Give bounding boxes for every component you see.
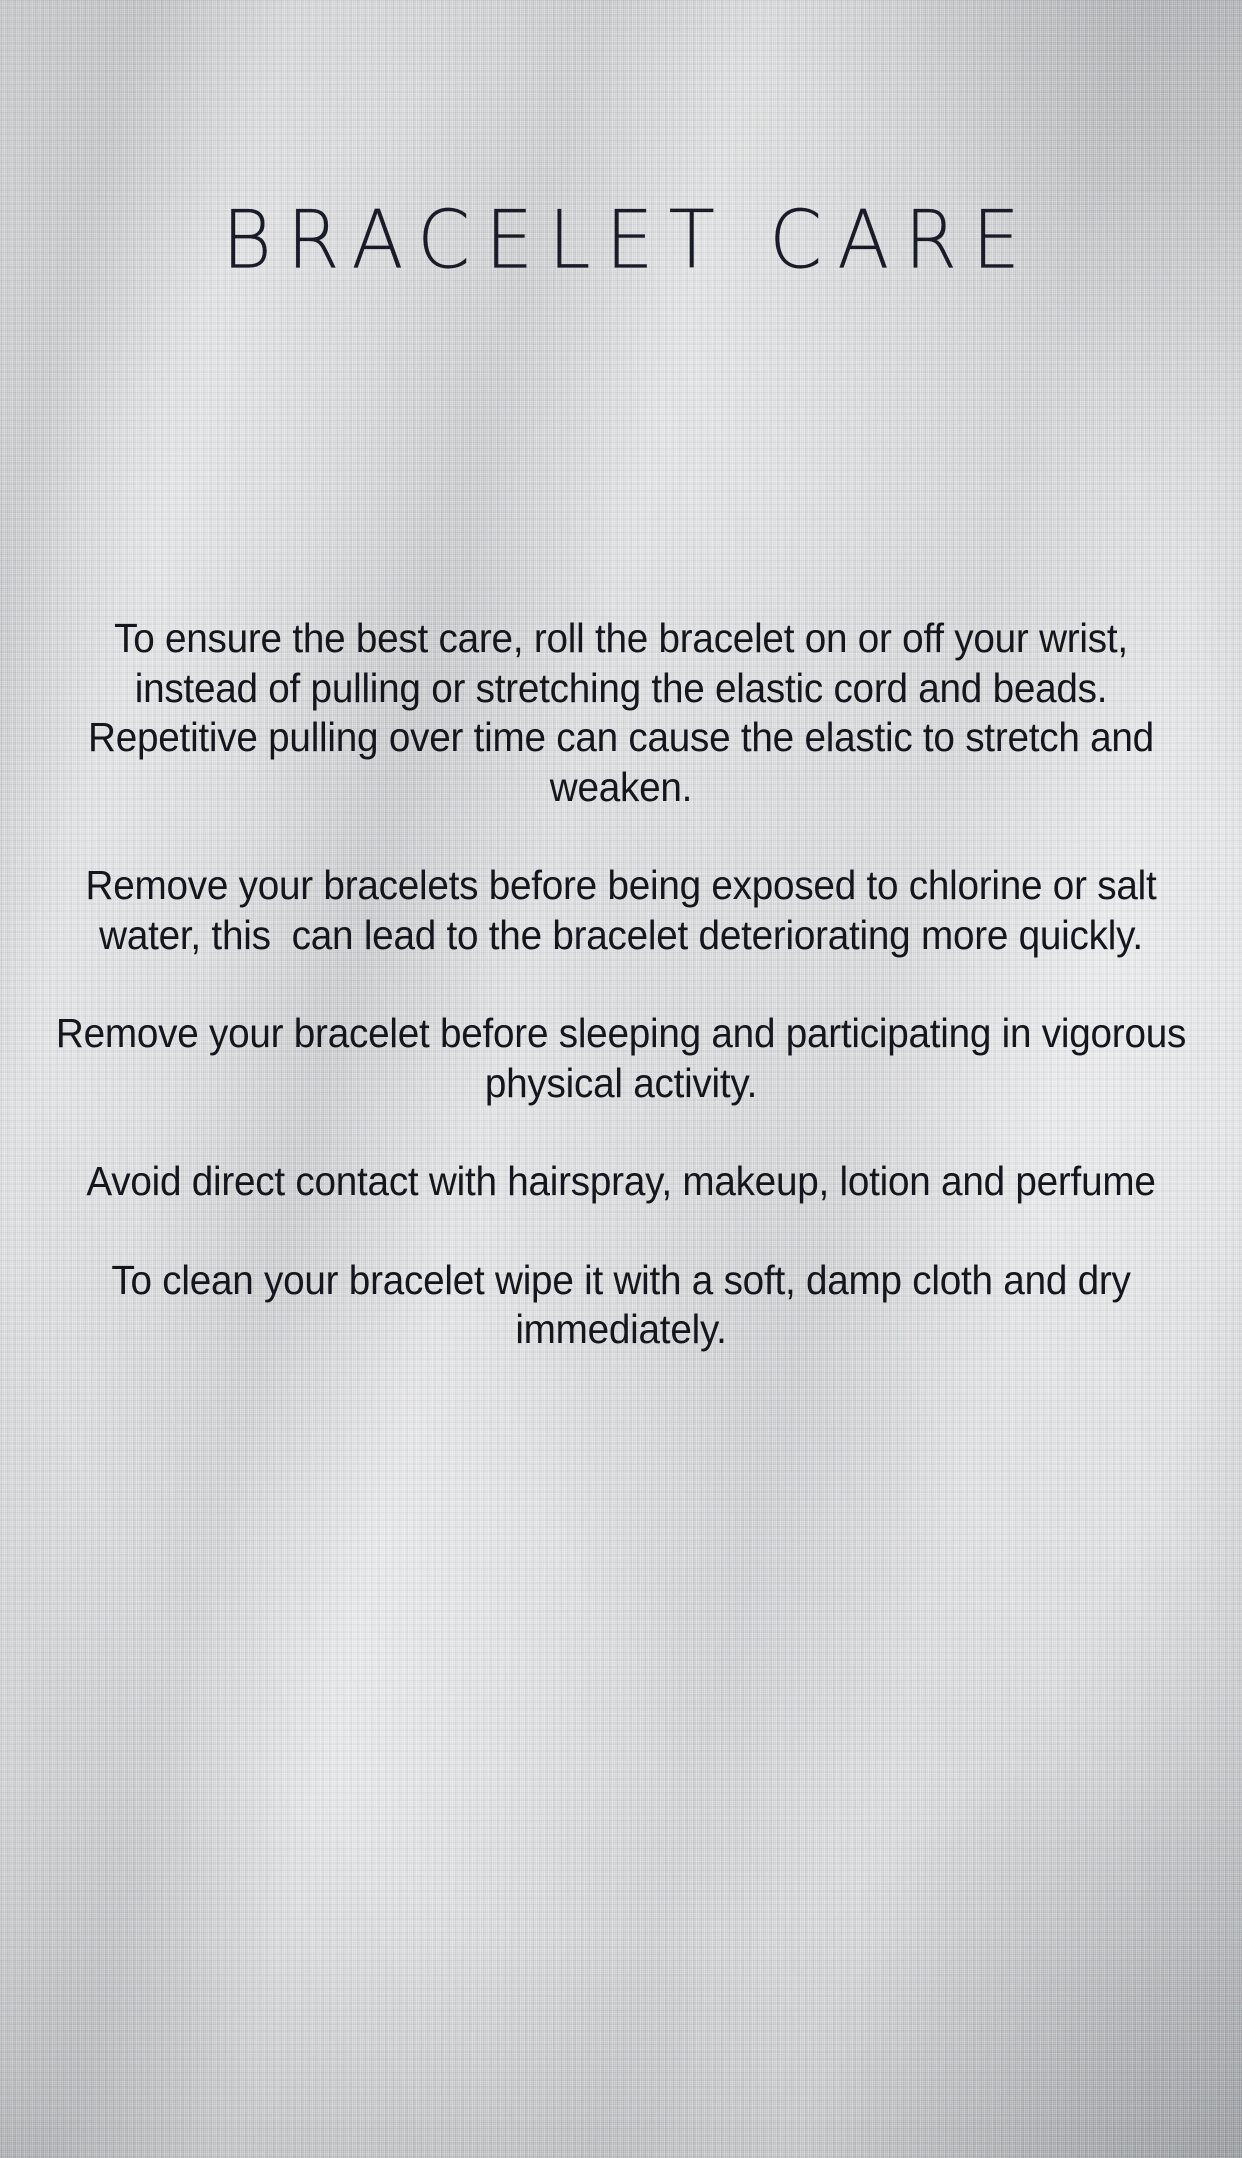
care-paragraph-2: Remove your bracelets before being expos… [55, 861, 1188, 960]
care-paragraph-3: Remove your bracelet before sleeping and… [55, 1009, 1188, 1108]
care-paragraph-5: To clean your bracelet wipe it with a so… [55, 1256, 1188, 1355]
care-paragraph-1: To ensure the best care, roll the bracel… [55, 614, 1188, 812]
page-title: BRACELET CARE [0, 191, 1242, 289]
bracelet-care-card: BRACELET CARE To ensure the best care, r… [0, 0, 1242, 2158]
care-paragraph-4: Avoid direct contact with hairspray, mak… [55, 1157, 1188, 1207]
care-instructions-list: To ensure the best care, roll the bracel… [28, 614, 1214, 1355]
card-content: BRACELET CARE To ensure the best care, r… [0, 0, 1242, 2158]
